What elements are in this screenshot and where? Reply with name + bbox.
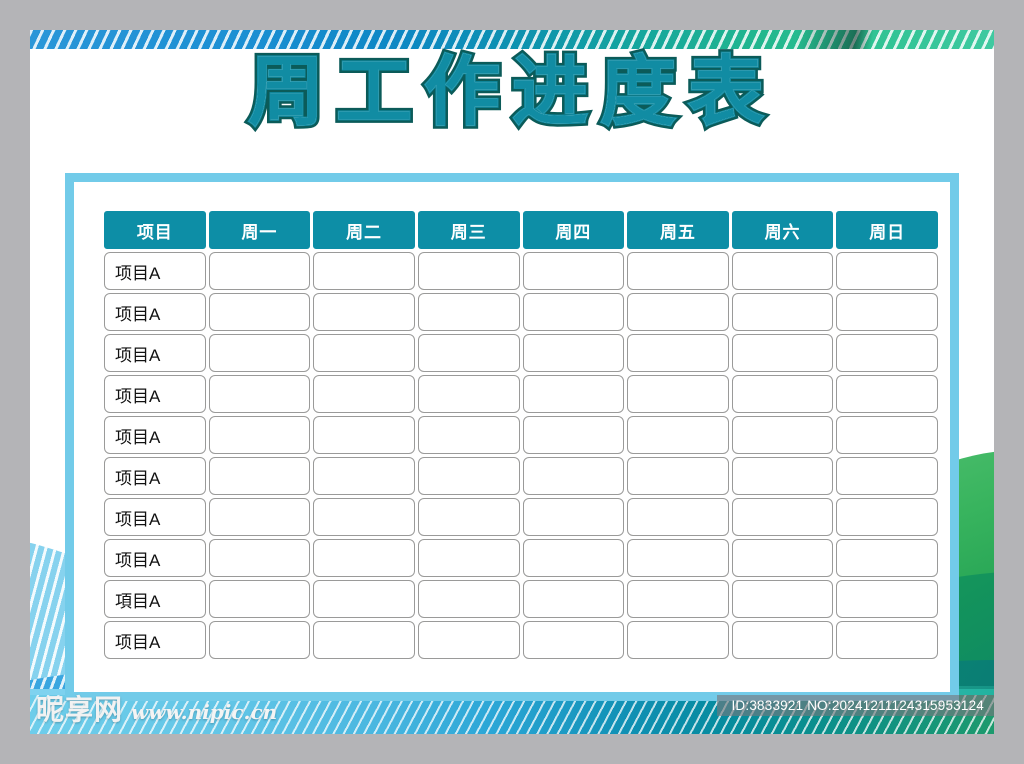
schedule-table: 项目 周一 周二 周三 周四 周五 周六 周日 项目A项目A项目A项目A项目A项… [101, 208, 941, 662]
row-day-cell[interactable] [418, 457, 520, 495]
table-row: 项目A [104, 457, 938, 495]
poster-page: 周工作进度表 周工作进度表 项目 周一 周二 周三 周四 周五 周六 周日 [30, 30, 994, 734]
row-day-cell[interactable] [418, 539, 520, 577]
site-watermark-logo: 昵享网 www.nipic.cn [36, 688, 277, 728]
row-day-cell[interactable] [732, 457, 834, 495]
row-day-cell[interactable] [836, 416, 938, 454]
row-day-cell[interactable] [523, 416, 625, 454]
site-url-label: www.nipic.cn [131, 700, 277, 724]
row-day-cell[interactable] [627, 252, 729, 290]
row-day-cell[interactable] [418, 621, 520, 659]
row-day-cell[interactable] [418, 416, 520, 454]
column-header-tue: 周二 [313, 211, 415, 249]
row-day-cell[interactable] [209, 252, 311, 290]
row-day-cell[interactable] [313, 498, 415, 536]
row-day-cell[interactable] [836, 293, 938, 331]
row-day-cell[interactable] [418, 580, 520, 618]
row-day-cell[interactable] [313, 457, 415, 495]
row-day-cell[interactable] [523, 252, 625, 290]
row-day-cell[interactable] [313, 293, 415, 331]
table-row: 项目A [104, 252, 938, 290]
row-day-cell[interactable] [523, 293, 625, 331]
row-day-cell[interactable] [523, 457, 625, 495]
row-day-cell[interactable] [523, 539, 625, 577]
row-day-cell[interactable] [313, 621, 415, 659]
row-day-cell[interactable] [209, 621, 311, 659]
row-day-cell[interactable] [627, 621, 729, 659]
row-day-cell[interactable] [836, 457, 938, 495]
table-header-row: 项目 周一 周二 周三 周四 周五 周六 周日 [104, 211, 938, 249]
column-header-thu: 周四 [523, 211, 625, 249]
row-day-cell[interactable] [732, 539, 834, 577]
table-header: 项目 周一 周二 周三 周四 周五 周六 周日 [104, 211, 938, 249]
image-id-watermark: ID:3833921 NO:20241211124315953124 [717, 695, 994, 716]
site-name-label: 昵享网 [36, 688, 123, 728]
row-day-cell[interactable] [732, 375, 834, 413]
column-header-mon: 周一 [209, 211, 311, 249]
row-day-cell[interactable] [209, 457, 311, 495]
row-day-cell[interactable] [523, 621, 625, 659]
row-day-cell[interactable] [732, 498, 834, 536]
row-day-cell[interactable] [627, 375, 729, 413]
schedule-table-wrapper: 项目 周一 周二 周三 周四 周五 周六 周日 项目A项目A项目A项目A项目A项… [101, 208, 941, 662]
row-day-cell[interactable] [209, 334, 311, 372]
row-day-cell[interactable] [627, 539, 729, 577]
column-header-sat: 周六 [732, 211, 834, 249]
row-day-cell[interactable] [313, 416, 415, 454]
row-day-cell[interactable] [732, 334, 834, 372]
row-day-cell[interactable] [627, 334, 729, 372]
row-day-cell[interactable] [418, 375, 520, 413]
row-item-label[interactable]: 项目A [104, 498, 206, 536]
row-item-label[interactable]: 项目A [104, 334, 206, 372]
table-row: 項目A [104, 580, 938, 618]
table-row: 项目A [104, 375, 938, 413]
row-day-cell[interactable] [732, 580, 834, 618]
row-item-label[interactable]: 项目A [104, 457, 206, 495]
row-day-cell[interactable] [418, 498, 520, 536]
row-day-cell[interactable] [836, 252, 938, 290]
column-header-item: 项目 [104, 211, 206, 249]
page-title-face: 周工作进度表 [30, 52, 994, 132]
row-day-cell[interactable] [732, 416, 834, 454]
row-day-cell[interactable] [313, 539, 415, 577]
table-row: 项目A [104, 293, 938, 331]
row-day-cell[interactable] [732, 621, 834, 659]
row-day-cell[interactable] [732, 293, 834, 331]
row-day-cell[interactable] [836, 539, 938, 577]
row-day-cell[interactable] [209, 580, 311, 618]
row-item-label[interactable]: 项目A [104, 539, 206, 577]
row-day-cell[interactable] [627, 580, 729, 618]
row-day-cell[interactable] [418, 252, 520, 290]
row-day-cell[interactable] [732, 252, 834, 290]
row-day-cell[interactable] [209, 293, 311, 331]
row-item-label[interactable]: 项目A [104, 621, 206, 659]
row-day-cell[interactable] [209, 416, 311, 454]
row-day-cell[interactable] [627, 498, 729, 536]
column-header-wed: 周三 [418, 211, 520, 249]
table-row: 项目A [104, 498, 938, 536]
row-day-cell[interactable] [418, 293, 520, 331]
row-day-cell[interactable] [209, 375, 311, 413]
row-day-cell[interactable] [313, 375, 415, 413]
table-body: 项目A项目A项目A项目A项目A项目A项目A项目A項目A项目A [104, 252, 938, 659]
row-day-cell[interactable] [209, 498, 311, 536]
row-day-cell[interactable] [523, 375, 625, 413]
row-day-cell[interactable] [523, 334, 625, 372]
row-day-cell[interactable] [627, 293, 729, 331]
row-item-label[interactable]: 项目A [104, 375, 206, 413]
row-day-cell[interactable] [836, 334, 938, 372]
column-header-fri: 周五 [627, 211, 729, 249]
row-item-label[interactable]: 项目A [104, 416, 206, 454]
row-day-cell[interactable] [313, 252, 415, 290]
row-day-cell[interactable] [523, 580, 625, 618]
schedule-table-frame: 项目 周一 周二 周三 周四 周五 周六 周日 项目A项目A项目A项目A项目A项… [65, 173, 959, 701]
table-row: 项目A [104, 539, 938, 577]
row-day-cell[interactable] [836, 621, 938, 659]
row-item-label[interactable]: 项目A [104, 293, 206, 331]
row-item-label[interactable]: 項目A [104, 580, 206, 618]
row-item-label[interactable]: 项目A [104, 252, 206, 290]
row-day-cell[interactable] [523, 498, 625, 536]
table-row: 项目A [104, 621, 938, 659]
table-row: 项目A [104, 416, 938, 454]
row-day-cell[interactable] [313, 580, 415, 618]
row-day-cell[interactable] [836, 375, 938, 413]
row-day-cell[interactable] [313, 334, 415, 372]
row-day-cell[interactable] [627, 416, 729, 454]
row-day-cell[interactable] [836, 498, 938, 536]
row-day-cell[interactable] [627, 457, 729, 495]
row-day-cell[interactable] [836, 580, 938, 618]
table-row: 项目A [104, 334, 938, 372]
column-header-sun: 周日 [836, 211, 938, 249]
row-day-cell[interactable] [418, 334, 520, 372]
row-day-cell[interactable] [209, 539, 311, 577]
